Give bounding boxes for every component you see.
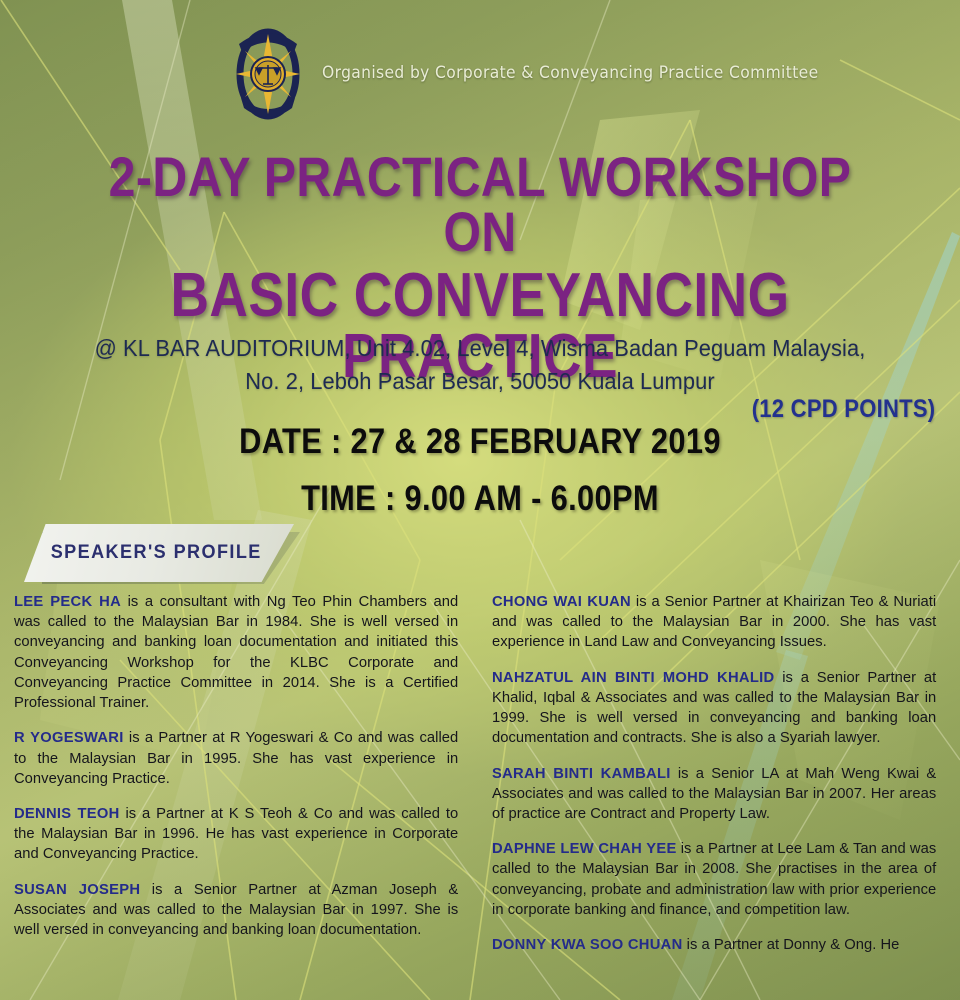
- speaker-name: CHONG WAI KUAN: [492, 593, 631, 610]
- banner-plate: SPEAKER'S PROFILE: [24, 524, 294, 582]
- organised-by-label: Organised by Corporate & Conveyancing Pr…: [322, 63, 818, 82]
- speaker-name: SARAH BINTI KAMBALI: [492, 765, 671, 782]
- venue-block: @ KL BAR AUDITORIUM, Unit 4.02, Level 4,…: [34, 332, 927, 399]
- kl-bar-malaysia-crest-icon: [232, 22, 304, 122]
- speaker-bio: NAHZATUL AIN BINTI MOHD KHALID is a Seni…: [492, 668, 936, 749]
- speaker-bio: SUSAN JOSEPH is a Senior Partner at Azma…: [14, 880, 458, 941]
- speaker-name: DONNY KWA SOO CHUAN: [492, 936, 683, 953]
- speaker-bio: SARAH BINTI KAMBALI is a Senior LA at Ma…: [492, 764, 936, 825]
- event-time: TIME : 9.00 AM - 6.00PM: [58, 471, 903, 528]
- speakers-profile-banner: SPEAKER'S PROFILE: [24, 524, 324, 586]
- speaker-name: R YOGESWARI: [14, 729, 124, 746]
- speaker-bio: DAPHNE LEW CHAH YEE is a Partner at Lee …: [492, 839, 936, 920]
- speakers-right-column: CHONG WAI KUAN is a Senior Partner at Kh…: [492, 592, 950, 1000]
- speaker-bio: DENNIS TEOH is a Partner at K S Teoh & C…: [14, 804, 458, 865]
- speaker-bio: DONNY KWA SOO CHUAN is a Partner at Donn…: [492, 935, 936, 955]
- venue-line-2: No. 2, Leboh Pasar Besar, 50050 Kuala Lu…: [34, 365, 927, 398]
- venue-line-1: @ KL BAR AUDITORIUM, Unit 4.02, Level 4,…: [34, 332, 927, 365]
- speaker-bio: R YOGESWARI is a Partner at R Yogeswari …: [14, 728, 458, 789]
- speakers-columns: LEE PECK HA is a consultant with Ng Teo …: [0, 592, 960, 1000]
- speaker-name: DENNIS TEOH: [14, 805, 120, 822]
- speaker-bio: LEE PECK HA is a consultant with Ng Teo …: [14, 592, 458, 713]
- speakers-left-column: LEE PECK HA is a consultant with Ng Teo …: [14, 592, 472, 1000]
- title-line-1: 2-DAY PRACTICAL WORKSHOP ON: [67, 150, 893, 260]
- event-poster: Organised by Corporate & Conveyancing Pr…: [0, 0, 960, 1000]
- speaker-name: LEE PECK HA: [14, 593, 121, 610]
- poster-header: Organised by Corporate & Conveyancing Pr…: [0, 18, 960, 126]
- speaker-bio-text: is a Partner at Donny & Ong. He: [683, 936, 900, 953]
- speaker-bio-text: is a consultant with Ng Teo Phin Chamber…: [14, 593, 458, 711]
- speaker-name: NAHZATUL AIN BINTI MOHD KHALID: [492, 669, 774, 686]
- speakers-profile-label: SPEAKER'S PROFILE: [51, 542, 268, 564]
- speaker-name: SUSAN JOSEPH: [14, 881, 140, 898]
- speaker-bio: CHONG WAI KUAN is a Senior Partner at Kh…: [492, 592, 936, 653]
- event-date: DATE : 27 & 28 FEBRUARY 2019: [58, 414, 903, 471]
- schedule-block: DATE : 27 & 28 FEBRUARY 2019 TIME : 9.00…: [58, 414, 903, 527]
- speaker-name: DAPHNE LEW CHAH YEE: [492, 840, 677, 857]
